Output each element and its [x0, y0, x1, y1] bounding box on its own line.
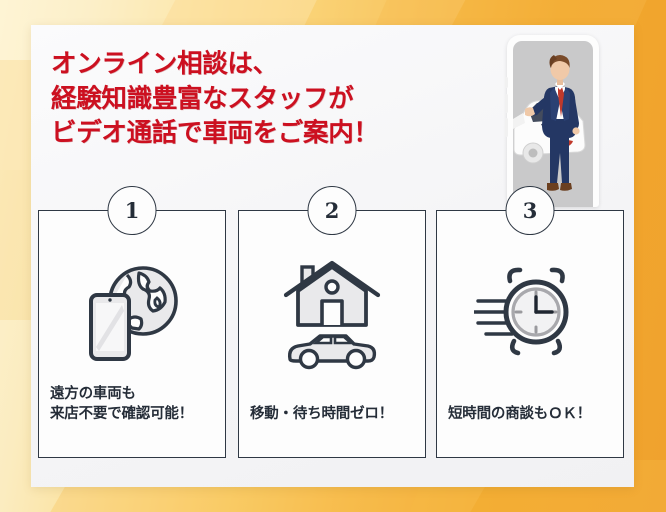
feature-cards: 1 遠方の車両も: [38, 210, 634, 468]
phone-side-button: [505, 77, 508, 88]
feature-card-1[interactable]: 1 遠方の車両も: [38, 210, 226, 458]
card-caption: 短時間の商談もＯＫ！: [448, 404, 615, 425]
house-car-icon: [276, 255, 388, 371]
card-caption: 移動・待ち時間ゼロ！: [250, 404, 417, 425]
headline-line-2: 経験知識豊富なスタッフが: [51, 82, 379, 117]
headline-line-3: ビデオ通話で車両をご案内！: [51, 116, 379, 151]
feature-card-3[interactable]: 3: [436, 210, 624, 458]
card-number-badge: 2: [308, 186, 357, 235]
phone-side-button: [505, 118, 508, 137]
salesperson-car-illustration: [513, 41, 593, 207]
globe-smartphone-icon: [77, 261, 187, 365]
promo-banner: オンライン相談は、 経験知識豊富なスタッフが ビデオ通話で車両をご案内！: [0, 0, 666, 512]
smartphone-mockup: [507, 35, 599, 207]
card-number-badge: 1: [108, 186, 157, 235]
content-panel: オンライン相談は、 経験知識豊富なスタッフが ビデオ通話で車両をご案内！: [31, 25, 634, 487]
phone-screen: [513, 41, 593, 207]
card-icon-area: [39, 245, 225, 381]
card-caption: 遠方の車両も 来店不要で確認可能！: [50, 384, 217, 425]
car-icon: [290, 336, 375, 368]
feature-card-2[interactable]: 2: [238, 210, 426, 458]
card-number-badge: 3: [506, 186, 555, 235]
card-icon-area: [239, 245, 425, 381]
headline-line-1: オンライン相談は、: [51, 47, 379, 82]
house-icon: [286, 263, 378, 325]
phone-side-button: [505, 94, 508, 113]
alarm-clock-speed-icon: [474, 265, 586, 361]
card-icon-area: [437, 245, 623, 381]
headline: オンライン相談は、 経験知識豊富なスタッフが ビデオ通話で車両をご案内！: [51, 47, 379, 151]
